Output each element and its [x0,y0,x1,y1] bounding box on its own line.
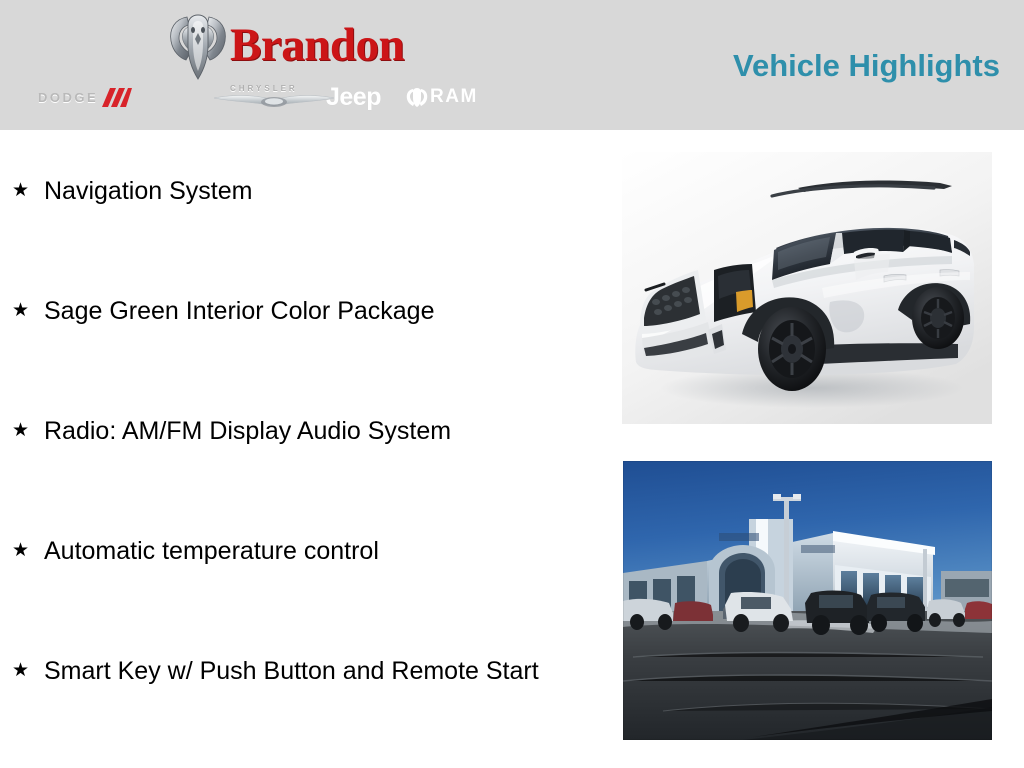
vehicle-highlights-list: ★ Navigation System ★ Sage Green Interio… [0,130,600,768]
ram-head-emblem-icon [167,11,229,83]
star-bullet-icon: ★ [12,174,44,208]
ram-wordmark: RAM [430,86,478,108]
list-item: ★ Smart Key w/ Push Button and Remote St… [12,654,572,688]
list-item: ★ Sage Green Interior Color Package [12,294,582,328]
dealer-name-wordmark: Brandon [230,22,404,69]
header-bar: Brandon DODGE CHRYSLER [0,0,1024,130]
list-item: ★ Automatic temperature control [12,534,582,568]
dodge-slashes-icon [102,88,132,107]
chrysler-brand-mark: CHRYSLER [214,84,334,110]
dodge-wordmark: DODGE [38,90,98,105]
dealer-logo: Brandon DODGE CHRYSLER [34,8,534,123]
dealership-photo-illustration [623,461,992,740]
highlight-label: Sage Green Interior Color Package [44,294,582,328]
dealership-photo [623,461,992,740]
list-item: ★ Radio: AM/FM Display Audio System [12,414,582,448]
highlight-label: Smart Key w/ Push Button and Remote Star… [44,654,572,688]
star-bullet-icon: ★ [12,534,44,568]
vehicle-photo [622,152,992,424]
brand-row: DODGE CHRYSLER [34,82,534,116]
vehicle-photo-illustration [622,152,992,424]
star-bullet-icon: ★ [12,654,44,688]
ram-brand-mark: RAM [406,86,478,108]
jeep-wordmark-icon: Jeep [326,83,381,112]
highlight-label: Radio: AM/FM Display Audio System [44,414,582,448]
star-bullet-icon: ★ [12,294,44,328]
highlight-label: Automatic temperature control [44,534,582,568]
page-title: Vehicle Highlights [733,48,1000,84]
dodge-brand-mark: DODGE [38,88,132,106]
list-item: ★ Navigation System [12,174,582,208]
ram-head-small-icon [406,86,428,108]
chrysler-wordmark: CHRYSLER [230,84,298,93]
star-bullet-icon: ★ [12,414,44,448]
chrysler-wings-icon [214,93,334,110]
highlight-label: Navigation System [44,174,582,208]
